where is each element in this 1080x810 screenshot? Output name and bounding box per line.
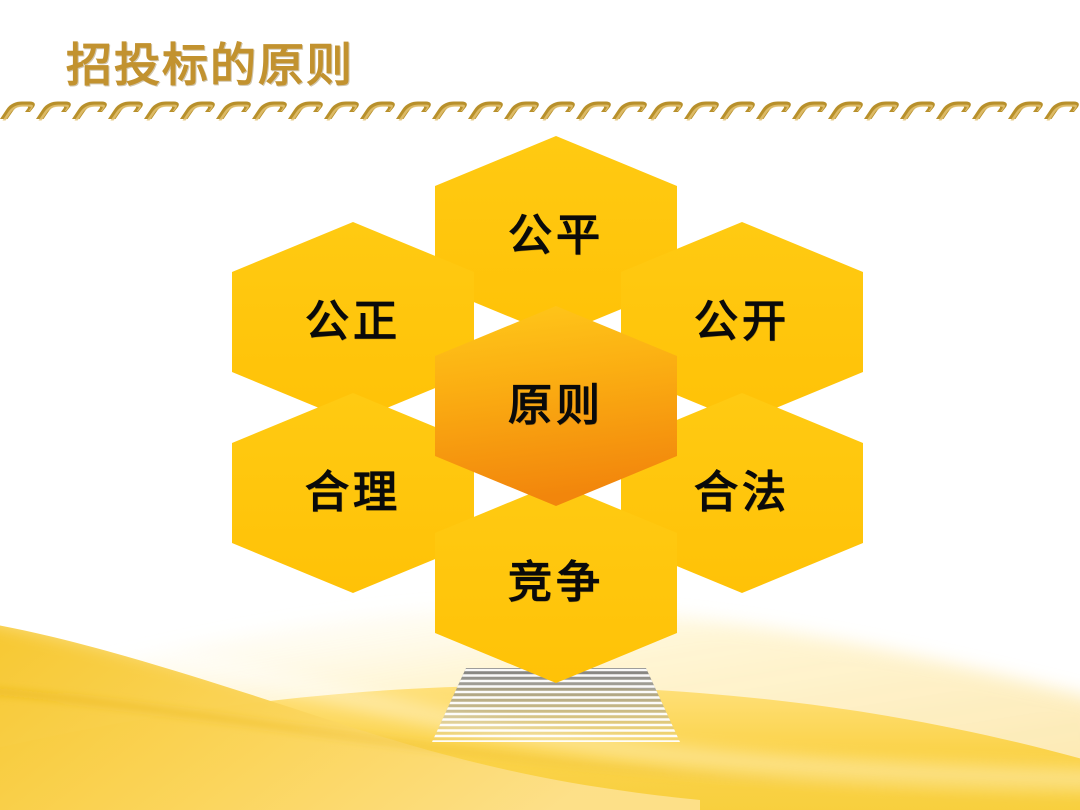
- hex-label-top: 公平: [508, 214, 604, 258]
- hex-label-upper-left: 公正: [305, 300, 401, 344]
- hex-label-lower-right: 合法: [694, 471, 790, 515]
- hex-label-center: 原则: [508, 384, 604, 428]
- honeycomb-diagram: 公平 公正 公开 合理 合法 竞争 原则: [0, 0, 1080, 810]
- hex-label-bottom: 竞争: [508, 561, 604, 605]
- hex-label-lower-left: 合理: [305, 471, 401, 515]
- hex-label-upper-right: 公开: [694, 300, 790, 344]
- slide-canvas: 招投标的原则: [0, 0, 1080, 810]
